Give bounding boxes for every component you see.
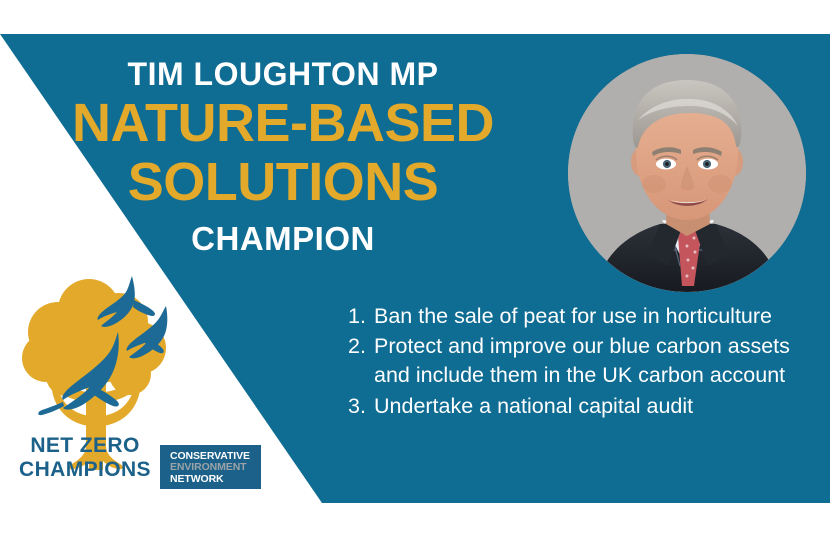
list-item-number: 1. (348, 302, 374, 331)
wordmark-line-2: CHAMPIONS (10, 458, 160, 482)
list-item-text: Undertake a national capital audit (374, 392, 808, 421)
role-champion: CHAMPION (0, 222, 566, 257)
cen-line-3: NETWORK (170, 474, 250, 485)
list-item-number: 2. (348, 332, 374, 361)
list-item: 2. Protect and improve our blue carbon a… (348, 332, 808, 390)
list-item-text: Ban the sale of peat for use in horticul… (374, 302, 808, 331)
pledge-list: 1. Ban the sale of peat for use in horti… (348, 302, 808, 422)
list-item-text: Protect and improve our blue carbon asse… (374, 332, 808, 390)
cen-logo-text: CONSERVATIVE ENVIRONMENT NETWORK (170, 451, 250, 485)
avatar (568, 54, 806, 292)
wordmark-line-1: NET ZERO (10, 434, 160, 458)
cen-line-2: ENVIRONMENT (170, 462, 250, 473)
portrait-illustration (568, 54, 806, 292)
title-line-nature-based: NATURE-BASED (0, 96, 566, 151)
poster-canvas: TIM LOUGHTON MP NATURE-BASED SOLUTIONS C… (0, 0, 830, 540)
net-zero-champions-wordmark: NET ZERO CHAMPIONS (10, 434, 160, 481)
list-item-number: 3. (348, 392, 374, 421)
title-line-solutions: SOLUTIONS (0, 155, 566, 210)
conservative-environment-network-logo: CONSERVATIVE ENVIRONMENT NETWORK (160, 445, 261, 489)
list-item: 1. Ban the sale of peat for use in horti… (348, 302, 808, 331)
headline-block: TIM LOUGHTON MP NATURE-BASED SOLUTIONS C… (0, 58, 566, 256)
list-item: 3. Undertake a national capital audit (348, 392, 808, 421)
mp-name: TIM LOUGHTON MP (0, 58, 566, 92)
